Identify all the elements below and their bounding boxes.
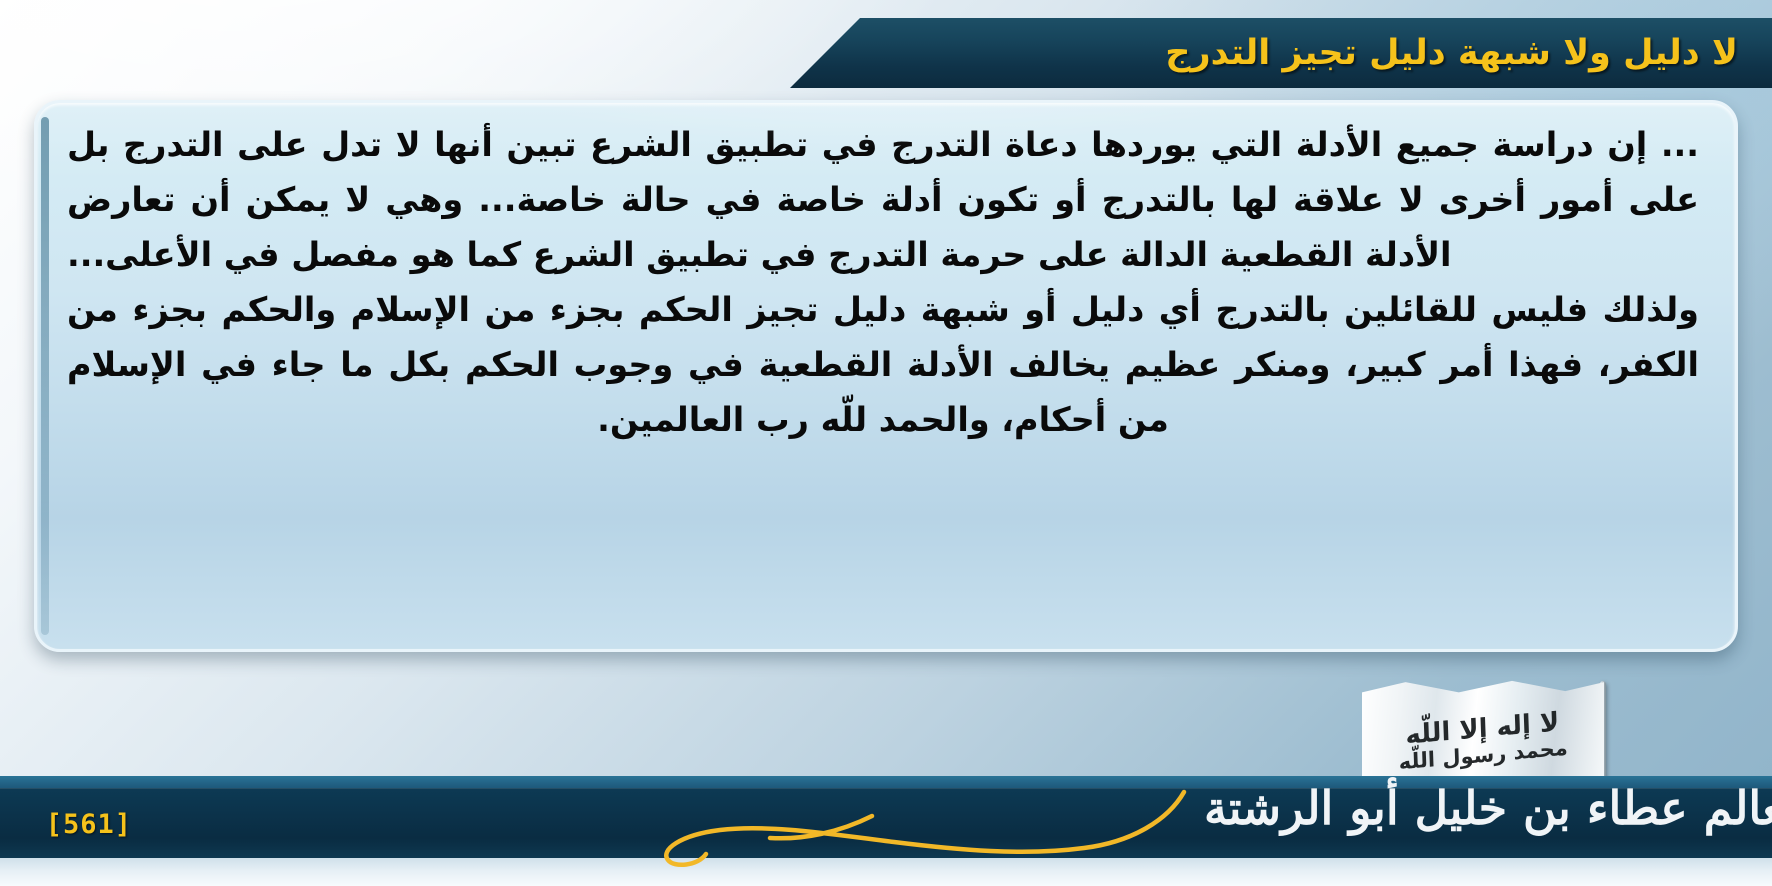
page-title: لا دليل ولا شبهة دليل تجيز التدرج <box>1165 36 1738 71</box>
flag-shahada-text: لا إله إلا اللّه محمد رسول اللّه <box>1398 708 1569 774</box>
page-number: [561] <box>46 809 132 840</box>
content-card: ... إن دراسة جميع الأدلة التي يوردها دعا… <box>34 100 1738 652</box>
footer-baseline <box>0 858 1772 886</box>
slide-canvas: لا دليل ولا شبهة دليل تجيز التدرج ... إن… <box>0 0 1772 886</box>
body-text-block: ... إن دراسة جميع الأدلة التي يوردها دعا… <box>37 103 1735 447</box>
shahada-line-1: لا إله إلا اللّه <box>1405 707 1560 750</box>
body-paragraph-1: ... إن دراسة جميع الأدلة التي يوردها دعا… <box>67 117 1699 282</box>
footer-bar <box>0 788 1772 858</box>
header-banner: لا دليل ولا شبهة دليل تجيز التدرج <box>790 18 1772 88</box>
body-paragraph-2: ولذلك فليس للقائلين بالتدرج أي دليل أو ش… <box>67 282 1699 447</box>
shahada-line-2: محمد رسول اللّه <box>1399 736 1569 774</box>
